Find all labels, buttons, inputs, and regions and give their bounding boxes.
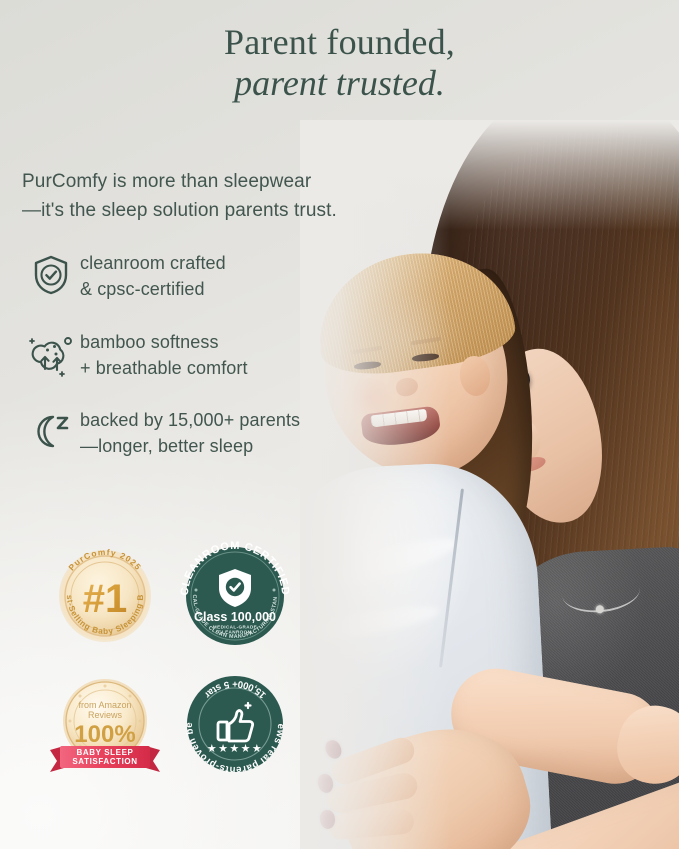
badge-source-line-2: Reviews [88, 710, 123, 720]
feature-line-1: cleanroom crafted [80, 250, 226, 276]
ribbon-line-2: SATISFACTION [72, 757, 137, 766]
moon-sleep-icon [22, 407, 80, 451]
star-rating: ★★★★★ [207, 742, 263, 755]
page-title: Parent founded, parent trusted. [0, 22, 679, 104]
badge-source-line-1: from Amazon [78, 700, 131, 710]
trust-badge-grid: PurComfy 2025 Best-Selling Baby Sleeping… [44, 538, 296, 780]
cleanroom-certified-badge: CLEANROOM CERTIFIED MEDICAL-GRADE CLEAN … [174, 538, 296, 650]
shield-check-icon [22, 250, 80, 296]
feature-text: cleanroom crafted & cpsc-certified [80, 250, 226, 303]
subheading-line-1: PurComfy is more than sleepwear [22, 168, 412, 197]
feature-line-2: —longer, better sleep [80, 433, 300, 459]
feature-text: bamboo softness + breathable comfort [80, 329, 248, 382]
reviews-badge: 15,000+ 5 star reviews real parents-prov… [174, 668, 296, 780]
feature-line-1: bamboo softness [80, 329, 248, 355]
subheading-line-2: —it's the sleep solution parents trust. [22, 197, 412, 226]
badge-rank: #1 [83, 577, 128, 621]
badge-percent: 100% [74, 721, 135, 748]
bamboo-leaf-icon [22, 329, 80, 377]
feature-line-2: + breathable comfort [80, 355, 248, 381]
feature-item-bamboo: bamboo softness + breathable comfort [22, 329, 362, 382]
feature-text: backed by 15,000+ parents —longer, bette… [80, 407, 300, 460]
badge-subtitle-2: CLEANROOM [218, 630, 252, 635]
headline-line-1: Parent founded, [0, 22, 679, 63]
promo-graphic: Parent founded, parent trusted. PurComfy… [0, 0, 679, 849]
feature-item-sleep: backed by 15,000+ parents —longer, bette… [22, 407, 362, 460]
best-seller-badge: PurComfy 2025 Best-Selling Baby Sleeping… [44, 538, 166, 650]
feature-item-cleanroom: cleanroom crafted & cpsc-certified [22, 250, 362, 303]
feature-list: cleanroom crafted & cpsc-certified [22, 250, 362, 486]
feature-line-2: & cpsc-certified [80, 276, 226, 302]
headline-line-2: parent trusted. [0, 63, 679, 104]
subheading: PurComfy is more than sleepwear —it's th… [22, 168, 412, 226]
badge-class: Class 100,000 [194, 610, 276, 624]
amazon-satisfaction-badge: from Amazon Reviews 100% BABY SLEEP SATI… [44, 668, 166, 780]
ribbon-line-1: BABY SLEEP [77, 748, 134, 757]
feature-line-1: backed by 15,000+ parents [80, 407, 300, 433]
